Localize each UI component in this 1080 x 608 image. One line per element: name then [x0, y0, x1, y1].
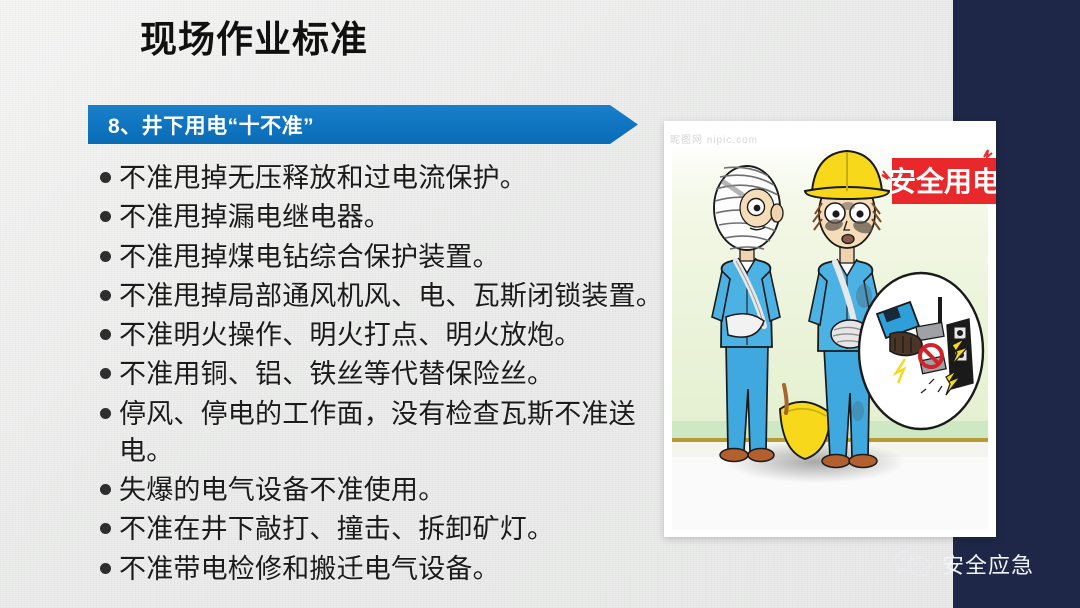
bullet-dot-icon: [100, 290, 111, 301]
bullet-list: 不准甩掉无压释放和过电流保护。 不准甩掉漏电继电器。 不准甩掉煤电钻综合保护装置…: [100, 160, 680, 590]
list-item: 停风、停电的工作面，没有检查瓦斯不准送电。: [100, 396, 680, 471]
bullet-dot-icon: [100, 172, 111, 183]
list-item: 不准在井下敲打、撞击、拆卸矿灯。: [100, 511, 680, 548]
wechat-badge: 安全应急: [893, 548, 1034, 580]
wechat-badge-label: 安全应急: [942, 548, 1034, 580]
list-item: 失爆的电气设备不准使用。: [100, 472, 680, 509]
bullet-dot-icon: [100, 368, 111, 379]
list-item: 不准甩掉煤电钻综合保护装置。: [100, 239, 680, 276]
list-item: 不准甩掉局部通风机风、电、瓦斯闭锁装置。: [100, 278, 680, 315]
list-item-label: 不准甩掉漏电继电器。: [119, 199, 391, 236]
list-item-label: 停风、停电的工作面，没有检查瓦斯不准送电。: [119, 396, 680, 471]
list-item: 不准用铜、铝、铁丝等代替保险丝。: [100, 356, 680, 393]
bullet-dot-icon: [100, 523, 111, 534]
illustration-watermark: 昵图网 nipic.com: [670, 131, 758, 146]
bullet-dot-icon: [100, 329, 111, 340]
safety-cartoon-image: 安全用电: [664, 121, 996, 537]
bullet-dot-icon: [100, 251, 111, 262]
bullet-dot-icon: [100, 563, 111, 574]
bullet-dot-icon: [100, 484, 111, 495]
wechat-icon: [893, 548, 933, 580]
list-item-label: 不准用铜、铝、铁丝等代替保险丝。: [119, 356, 554, 393]
list-item-label: 不准在井下敲打、撞击、拆卸矿灯。: [119, 511, 554, 548]
section-banner-label: 8、井下用电“十不准”: [108, 110, 314, 140]
illustration-card: 安全用电: [664, 121, 996, 537]
list-item-label: 失爆的电气设备不准使用。: [119, 472, 445, 509]
bullet-dot-icon: [100, 211, 111, 222]
page-title: 现场作业标准: [140, 18, 368, 62]
slide-canvas: 现场作业标准 8、井下用电“十不准” 不准甩掉无压释放和过电流保护。 不准甩掉漏…: [0, 0, 1080, 608]
list-item: 不准甩掉漏电继电器。: [100, 199, 680, 236]
list-item-label: 不准甩掉无压释放和过电流保护。: [119, 160, 527, 197]
list-item-label: 不准甩掉局部通风机风、电、瓦斯闭锁装置。: [119, 278, 663, 315]
svg-text:安全用电: 安全用电: [888, 165, 996, 197]
bullet-dot-icon: [100, 408, 111, 419]
list-item-label: 不准甩掉煤电钻综合保护装置。: [119, 239, 500, 276]
section-banner: 8、井下用电“十不准”: [88, 105, 638, 144]
list-item: 不准甩掉无压释放和过电流保护。: [100, 160, 680, 197]
list-item: 不准明火操作、明火打点、明火放炮。: [100, 317, 680, 354]
list-item-label: 不准带电检修和搬迁电气设备。: [119, 551, 500, 588]
list-item-label: 不准明火操作、明火打点、明火放炮。: [119, 317, 581, 354]
list-item: 不准带电检修和搬迁电气设备。: [100, 551, 680, 588]
